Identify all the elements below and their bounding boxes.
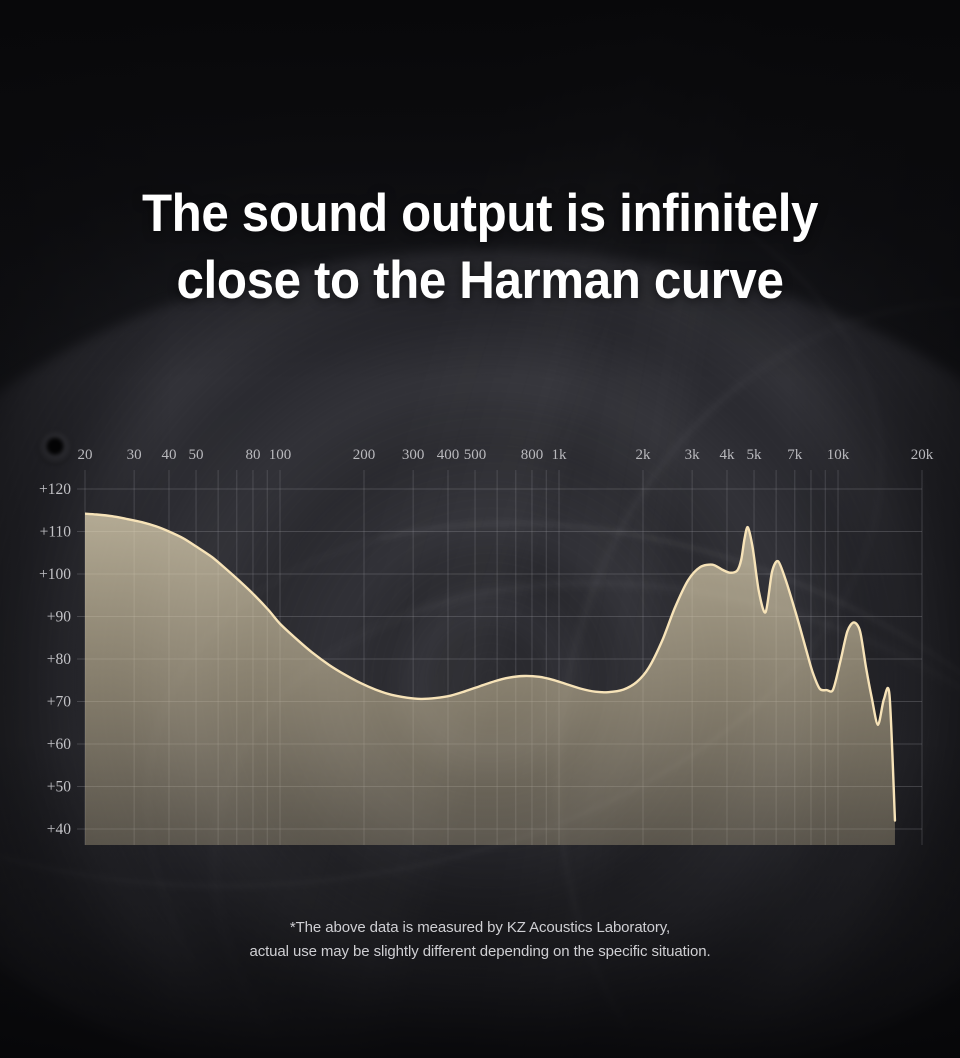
x-tick-label: 20: [78, 447, 93, 463]
x-tick-label: 30: [127, 447, 142, 463]
x-tick-label: 3k: [685, 447, 701, 463]
chart-svg: 20304050801002003004005008001k2k3k4k5k7k…: [0, 0, 960, 880]
response-curve: [85, 514, 895, 845]
y-tick-label: +100: [39, 566, 71, 583]
x-tick-label: 40: [161, 447, 176, 463]
x-tick-label: 50: [189, 447, 204, 463]
x-tick-label: 80: [245, 447, 260, 463]
x-tick-label: 100: [269, 447, 292, 463]
x-tick-label: 800: [521, 447, 544, 463]
y-tick-label: +50: [47, 779, 71, 796]
x-tick-label: 200: [353, 447, 376, 463]
y-tick-label: +40: [47, 821, 71, 838]
y-tick-label: +80: [47, 651, 71, 668]
y-tick-label: +60: [47, 736, 71, 753]
x-tick-label: 7k: [787, 447, 803, 463]
x-tick-label: 1k: [552, 447, 568, 463]
x-tick-label: 500: [464, 447, 487, 463]
y-tick-label: +70: [47, 694, 71, 711]
measurement-disclaimer: *The above data is measured by KZ Acoust…: [0, 916, 960, 964]
x-tick-label: 400: [437, 447, 460, 463]
y-axis-tick-labels: +120+110+100+90+80+70+60+50+40: [39, 481, 71, 838]
y-tick-label: +90: [47, 609, 71, 626]
frequency-response-chart: 20304050801002003004005008001k2k3k4k5k7k…: [0, 0, 960, 880]
x-axis-tick-labels: 20304050801002003004005008001k2k3k4k5k7k…: [78, 447, 934, 463]
y-tick-label: +110: [40, 524, 72, 541]
y-tick-label: +120: [39, 481, 71, 498]
x-tick-label: 10k: [827, 447, 850, 463]
x-tick-label: 5k: [747, 447, 763, 463]
x-tick-label: 4k: [719, 447, 735, 463]
x-tick-label: 300: [402, 447, 425, 463]
x-tick-label: 2k: [636, 447, 652, 463]
x-tick-label: 20k: [911, 447, 934, 463]
response-curve-fill: [85, 514, 895, 845]
promo-page: The sound output is infinitely close to …: [0, 0, 960, 1058]
